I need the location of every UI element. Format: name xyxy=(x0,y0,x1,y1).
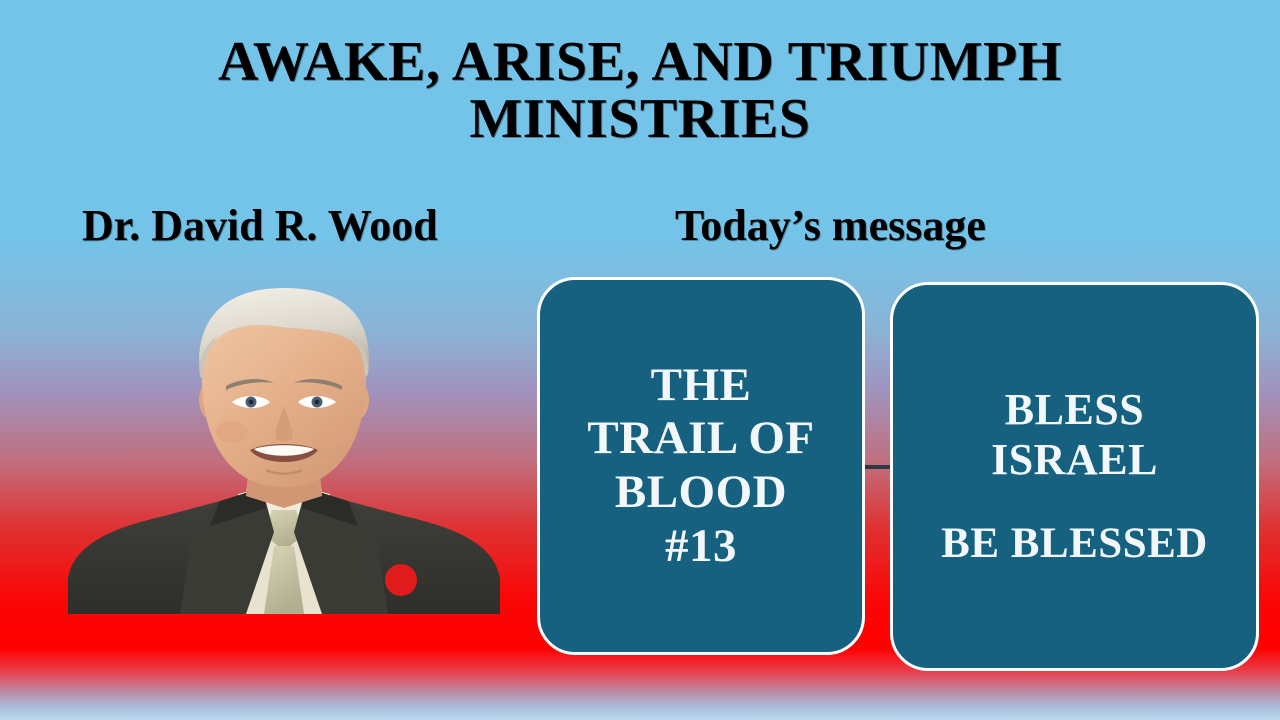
topic-right-line-1: BLESS xyxy=(991,385,1158,435)
speaker-name: Dr. David R. Wood xyxy=(82,204,438,248)
portrait-illustration xyxy=(60,282,508,614)
topic-right-line-2: ISRAEL xyxy=(991,435,1158,485)
headline-line-1: AWAKE, ARISE, AND TRIUMPH xyxy=(0,34,1280,91)
cheek-left xyxy=(216,421,248,443)
topic-left-line-2: TRAIL OF xyxy=(587,412,814,466)
speaker-portrait xyxy=(60,282,508,614)
slide-canvas: AWAKE, ARISE, AND TRIUMPH MINISTRIES Dr.… xyxy=(0,0,1280,720)
topic-right-group-b: BE BLESSED xyxy=(941,519,1208,568)
lapel-pin-icon xyxy=(385,564,417,596)
topic-left-line-4: #13 xyxy=(665,520,737,574)
headline-line-2: MINISTRIES xyxy=(0,91,1280,148)
pupil-left xyxy=(249,400,254,405)
pupil-right xyxy=(315,400,320,405)
topic-left-line-3: BLOOD xyxy=(615,466,787,520)
topic-box-trail-of-blood[interactable]: THE TRAIL OF BLOOD #13 xyxy=(537,277,865,655)
topic-right-line-3: BE BLESSED xyxy=(941,519,1208,568)
topic-box-bless-israel[interactable]: BLESS ISRAEL BE BLESSED xyxy=(890,282,1259,671)
todays-message-label: Today’s message xyxy=(675,204,986,248)
topic-right-group-a: BLESS ISRAEL xyxy=(991,385,1158,485)
page-title: AWAKE, ARISE, AND TRIUMPH MINISTRIES xyxy=(0,34,1280,148)
cheek-right xyxy=(320,421,352,443)
topic-left-line-1: THE xyxy=(651,359,752,413)
